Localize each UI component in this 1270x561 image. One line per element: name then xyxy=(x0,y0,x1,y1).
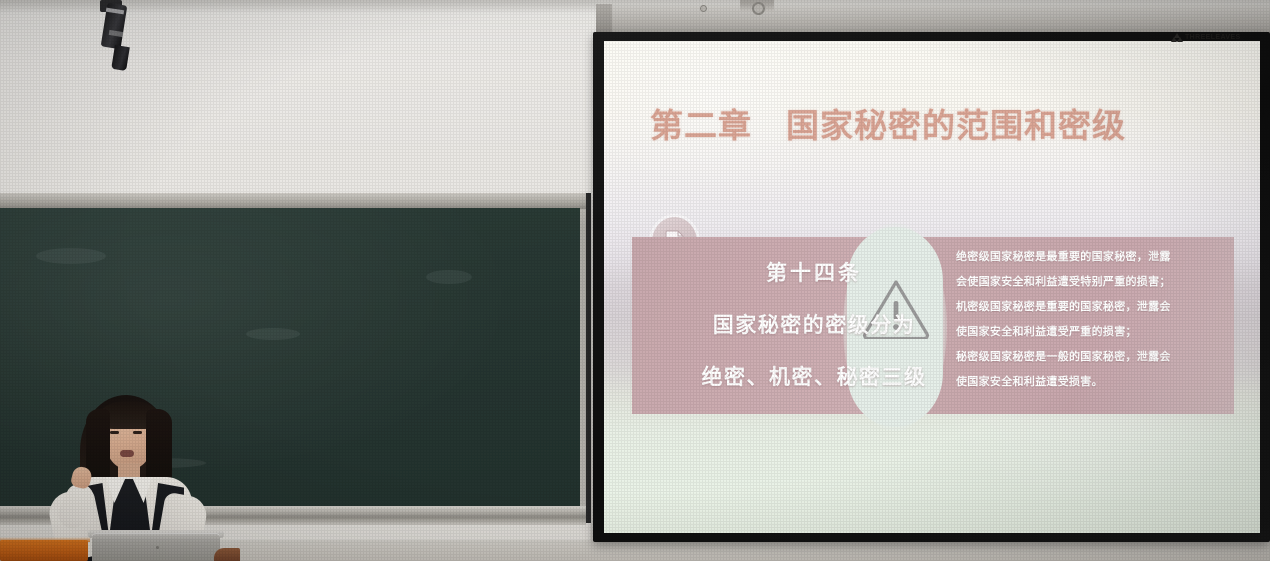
wooden-box xyxy=(0,540,88,561)
left-panel-line-3: 绝密、机密、秘密三级 xyxy=(664,351,964,403)
left-panel-line-2: 国家秘密的密级分为 xyxy=(664,299,964,351)
chair-edge xyxy=(214,548,240,561)
screen-housing-endcap xyxy=(596,4,612,34)
podium-fastener xyxy=(156,546,159,549)
right-panel-line-1: 绝密级国家秘密是最重要的国家秘密，泄露 xyxy=(956,244,1224,269)
chalkboard-top-rail xyxy=(0,193,586,209)
presenter-eye-left xyxy=(110,431,119,434)
projection-screen-canvas: 第二章 国家秘密的范围和密级 第十四条 国家秘密的密级分 xyxy=(604,41,1260,533)
right-panel-text: 绝密级国家秘密是最重要的国家秘密，泄露 会使国家安全和利益遭受特别严重的损害； … xyxy=(956,244,1224,394)
right-panel-line-2: 会使国家安全和利益遭受特别严重的损害； xyxy=(956,269,1224,294)
left-panel-text: 第十四条 国家秘密的密级分为 绝密、机密、秘密三级 xyxy=(664,247,964,403)
slide-title: 第二章 国家秘密的范围和密级 xyxy=(650,99,1126,147)
right-panel-line-6: 使国家安全和利益遭受损害。 xyxy=(956,369,1224,394)
lecture-room-photo: 第二章 国家秘密的范围和密级 第十四条 国家秘密的密级分 xyxy=(0,0,1270,561)
right-panel-line-3: 机密级国家秘密是重要的国家秘密，泄露会 xyxy=(956,294,1224,319)
screen-housing xyxy=(596,4,1270,34)
screen-housing-bolt xyxy=(752,2,765,15)
presenter-mouth xyxy=(120,450,134,457)
left-panel-line-1: 第十四条 xyxy=(664,247,964,299)
screen-brand-label: THREELEAVES xyxy=(1185,34,1241,41)
screen-housing-bolt-small xyxy=(700,5,707,12)
right-panel-line-4: 使国家安全和利益遭受严重的损害； xyxy=(956,319,1224,344)
presenter-eye-right xyxy=(133,431,142,434)
right-panel-line-5: 秘密级国家秘密是一般的国家秘密，泄露会 xyxy=(956,344,1224,369)
screen-brand-logo: THREELEAVES xyxy=(1172,33,1241,42)
three-diamonds-icon xyxy=(1172,33,1182,42)
